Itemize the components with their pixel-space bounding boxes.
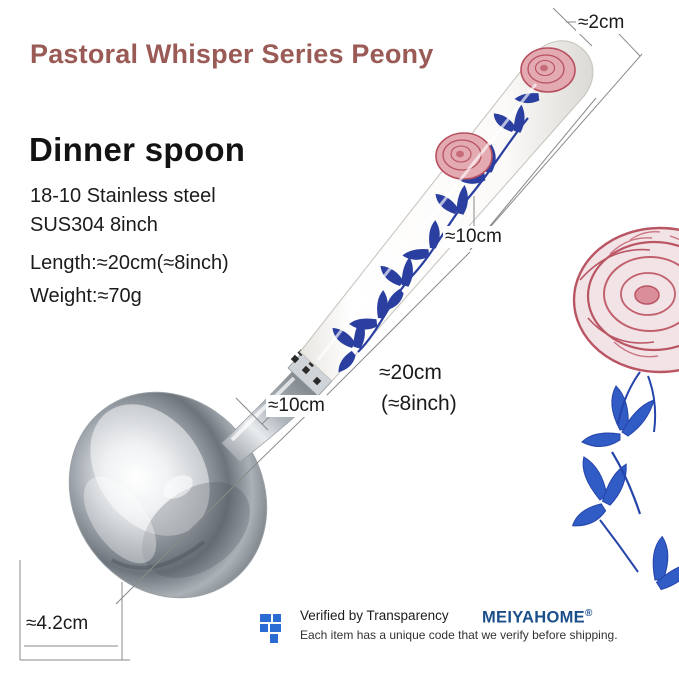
product-infographic: Pastoral Whisper Series Peony Dinner spo… [0, 0, 679, 679]
spec-weight: Weight:≈70g [30, 285, 142, 308]
verified-subtitle: Each item has a unique code that we veri… [300, 628, 618, 644]
dim-label-total-length-inch: (≈8inch) [379, 392, 459, 416]
series-title: Pastoral Whisper Series Peony [30, 38, 460, 71]
spec-material: 18-10 Stainless steel [30, 185, 216, 208]
dim-label-total-length: ≈20cm [377, 361, 444, 385]
transparency-icon [258, 612, 292, 646]
dimension-guides [20, 8, 642, 660]
brand-name: MEIYAHOME [482, 609, 585, 627]
spec-grade-size: SUS304 8inch [30, 214, 158, 237]
spoon-joint [288, 349, 332, 396]
dim-label-handle-width: ≈2cm [576, 12, 626, 34]
brand-registered-mark: ® [585, 608, 593, 619]
spoon-neck [222, 372, 318, 462]
dim-label-handle-length: ≈10cm [443, 226, 504, 248]
dim-label-bowl-width: ≈4.2cm [24, 613, 90, 635]
brand-logo: MEIYAHOME® [482, 608, 593, 628]
spoon-handle [300, 41, 593, 381]
product-title: Dinner spoon [29, 131, 245, 169]
handle-blue-leaves [314, 67, 559, 374]
background-peony-artwork [0, 0, 679, 679]
dim-label-bowl-length: ≈10cm [266, 395, 327, 417]
spec-length: Length:≈20cm(≈8inch) [30, 252, 229, 275]
